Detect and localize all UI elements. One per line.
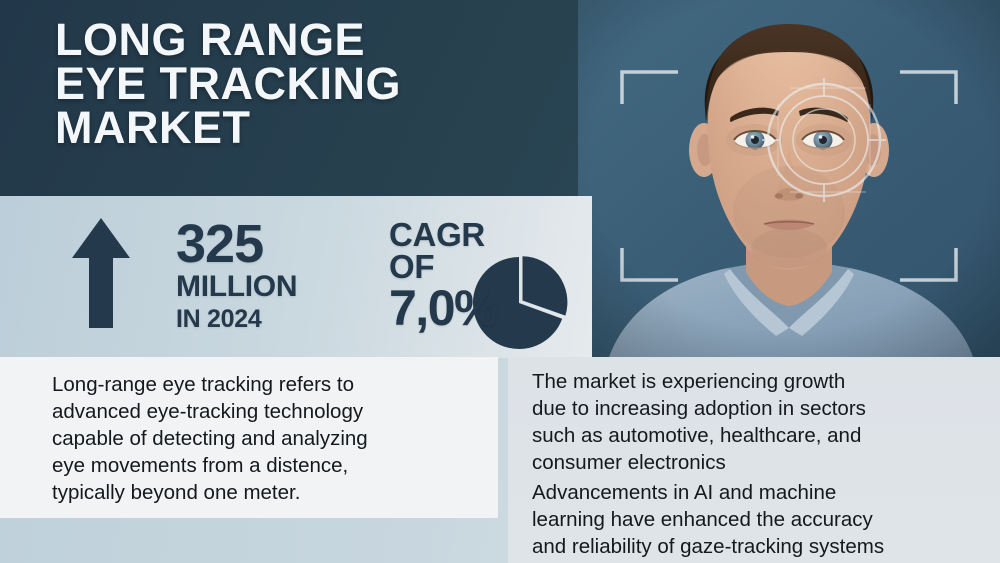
infographic-canvas: LONG RANGE EYE TRACKING MARKET <box>0 0 1000 563</box>
market-drivers-text: The market is experiencing growth due to… <box>532 369 994 477</box>
up-arrow-icon <box>72 218 130 328</box>
insights-card: The market is experiencing growth due to… <box>508 357 1000 563</box>
technology-advances-text: Advancements in AI and machine learning … <box>532 480 994 561</box>
cagr-value: 7,0% <box>389 285 504 333</box>
cagr-stat: CAGR OF 7,0% <box>389 219 504 333</box>
market-size-unit: MILLION <box>176 271 351 303</box>
cagr-label: CAGR OF <box>389 219 504 283</box>
market-size-value: 325 <box>176 219 351 269</box>
market-size-year: IN 2024 <box>176 306 351 334</box>
definition-card: Long-range eye tracking refers to advanc… <box>0 357 498 518</box>
page-title: LONG RANGE EYE TRACKING MARKET <box>55 18 575 150</box>
subject-photo <box>578 0 1000 360</box>
market-size-stat: 325 MILLION IN 2024 <box>176 219 351 333</box>
definition-text: Long-range eye tracking refers to advanc… <box>52 371 472 506</box>
